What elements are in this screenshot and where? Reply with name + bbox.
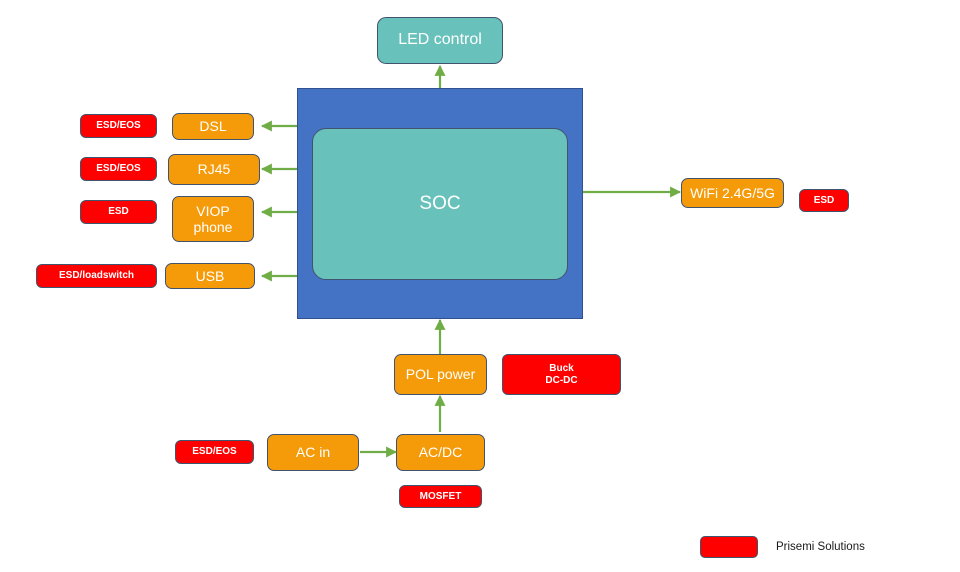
node-rj45[interactable]: RJ45 [168, 154, 260, 185]
tag-usb-protection[interactable]: ESD/loadswitch [36, 264, 157, 288]
node-usb[interactable]: USB [165, 263, 255, 289]
node-wifi[interactable]: WiFi 2.4G/5G [681, 178, 784, 208]
legend: Prisemi Solutions [700, 536, 865, 558]
node-dsl[interactable]: DSL [172, 113, 254, 140]
node-ac-dc[interactable]: AC/DC [396, 434, 485, 471]
tag-ac-dc-protection[interactable]: MOSFET [399, 485, 482, 508]
diagram-canvas: LED control SOC DSL RJ45 VIOP phone USB … [0, 0, 960, 572]
node-led-control[interactable]: LED control [377, 17, 503, 64]
tag-viop-protection[interactable]: ESD [80, 200, 157, 224]
legend-label-prisemi: Prisemi Solutions [776, 541, 865, 553]
node-soc[interactable]: SOC [312, 128, 568, 280]
node-pol-power[interactable]: POL power [394, 354, 487, 395]
tag-wifi-protection[interactable]: ESD [799, 189, 849, 212]
tag-pol-protection[interactable]: Buck DC-DC [502, 354, 621, 395]
node-viop-phone[interactable]: VIOP phone [172, 196, 254, 242]
tag-dsl-protection[interactable]: ESD/EOS [80, 114, 157, 138]
tag-ac-in-protection[interactable]: ESD/EOS [175, 440, 254, 464]
node-ac-in[interactable]: AC in [267, 434, 359, 471]
tag-rj45-protection[interactable]: ESD/EOS [80, 157, 157, 181]
legend-swatch-prisemi [700, 536, 758, 558]
